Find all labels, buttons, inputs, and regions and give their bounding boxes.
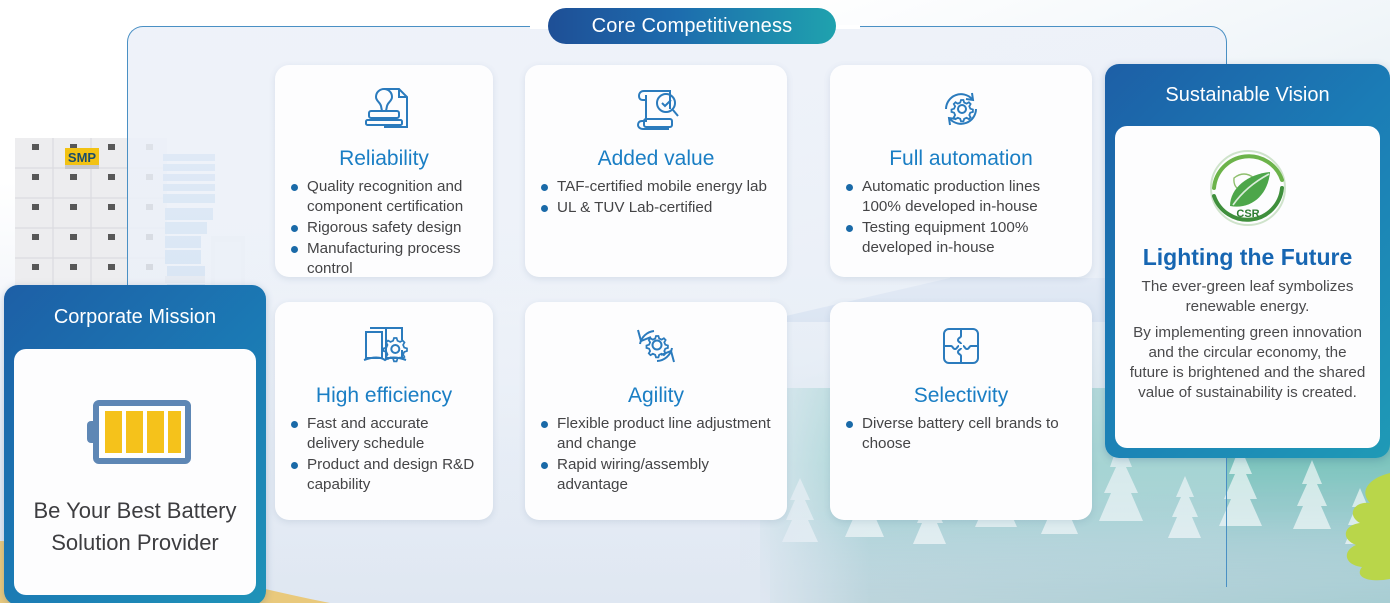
svg-text:SMP: SMP [68,150,97,165]
list-item: Diverse battery cell brands to choose [846,414,1078,454]
gear-arrows-icon [525,314,787,378]
card-bullet-list: Quality recognition and component certif… [275,177,493,279]
card-bullet-list: Fast and accurate delivery schedule Prod… [275,414,493,495]
sustainable-vision-panel[interactable]: Sustainable Vision CSR Lighting the Futu… [1105,64,1390,458]
list-item: Rapid wiring/assembly advantage [541,455,773,495]
list-item: Testing equipment 100% developed in-hous… [846,218,1078,258]
certificate-check-icon [525,77,787,141]
vision-heading: Sustainable Vision [1105,64,1390,126]
card-title: High efficiency [275,384,493,408]
card-title: Agility [525,384,787,408]
corporate-mission-panel[interactable]: Corporate Mission Be Your Best Battery S… [4,285,266,603]
book-gear-icon [275,314,493,378]
card-title: Added value [525,147,787,171]
csr-logo-label: CSR [1236,208,1259,220]
mission-body: Be Your Best Battery Solution Provider [14,349,256,595]
vision-body: CSR Lighting the Future The ever-green l… [1115,126,1380,448]
card-bullet-list: Diverse battery cell brands to choose [830,414,1092,454]
list-item: Flexible product line adjustment and cha… [541,414,773,454]
card-reliability[interactable]: Reliability Quality recognition and comp… [275,65,493,277]
mission-heading: Corporate Mission [4,285,266,349]
card-title: Reliability [275,147,493,171]
card-high-efficiency[interactable]: High efficiency Fast and accurate delive… [275,302,493,520]
mission-statement: Be Your Best Battery Solution Provider [14,495,256,559]
list-item: Fast and accurate delivery schedule [291,414,479,454]
infographic-stage: SMP [0,0,1390,603]
list-item: UL & TUV Lab-certified [541,198,773,218]
vision-paragraph-1: The ever-green leaf symbolizes renewable… [1115,277,1380,317]
csr-leaf-icon: CSR [1200,140,1296,236]
list-item: Product and design R&D capability [291,455,479,495]
stamp-document-icon [275,77,493,141]
vision-paragraph-2: By implementing green innovation and the… [1115,323,1380,403]
gear-cycle-icon [830,77,1092,141]
card-selectivity[interactable]: Selectivity Diverse battery cell brands … [830,302,1092,520]
list-item: Manufacturing process control [291,239,479,279]
vision-title: Lighting the Future [1143,244,1353,271]
card-bullet-list: Automatic production lines 100% develope… [830,177,1092,258]
core-competitiveness-badge: Core Competitiveness [548,8,836,44]
list-item: Rigorous safety design [291,218,479,238]
card-title: Selectivity [830,384,1092,408]
battery-icon [69,385,201,477]
puzzle-icon [830,314,1092,378]
card-title: Full automation [830,147,1092,171]
card-bullet-list: Flexible product line adjustment and cha… [525,414,787,495]
card-added-value[interactable]: Added value TAF-certified mobile energy … [525,65,787,277]
list-item: Quality recognition and component certif… [291,177,479,217]
card-bullet-list: TAF-certified mobile energy lab UL & TUV… [525,177,787,218]
list-item: Automatic production lines 100% develope… [846,177,1078,217]
card-agility[interactable]: Agility Flexible product line adjustment… [525,302,787,520]
card-full-automation[interactable]: Full automation Automatic production lin… [830,65,1092,277]
background-leaf-accent [1330,463,1390,583]
list-item: TAF-certified mobile energy lab [541,177,773,197]
